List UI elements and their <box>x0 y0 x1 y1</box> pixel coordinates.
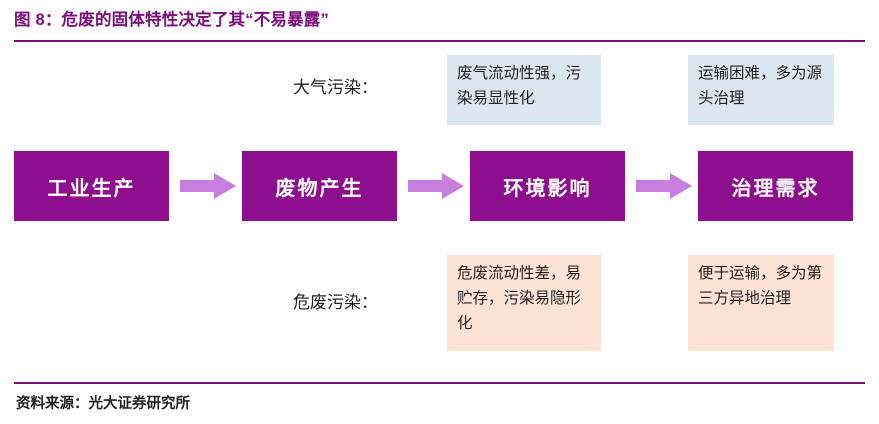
note-air-1: 废气流动性强，污染易显性化 <box>447 55 601 125</box>
figure-container: 图 8：危废的固体特性决定了其“不易暴露” 大气污染： 危废污染： 废气流动性强… <box>0 0 879 424</box>
flow-box-environmental-impact: 环境影响 <box>470 151 625 221</box>
arrow-right-icon-3 <box>636 173 692 199</box>
flow-box-industrial-production: 工业生产 <box>14 151 169 221</box>
note-hazardous-1: 危废流动性差，易贮存，污染易隐形化 <box>447 255 601 351</box>
title-divider <box>14 40 865 42</box>
note-hazardous-2: 便于运输，多为第三方异地治理 <box>688 255 834 351</box>
note-air-2: 运输困难，多为源头治理 <box>688 55 834 125</box>
page-title: 图 8：危废的固体特性决定了其“不易暴露” <box>14 8 865 32</box>
footer-divider <box>14 382 865 384</box>
row-label-air-pollution: 大气污染： <box>293 73 378 98</box>
source-note: 资料来源：光大证券研究所 <box>16 392 190 413</box>
arrow-right-icon-1 <box>180 173 236 199</box>
arrow-right-icon-2 <box>408 173 464 199</box>
row-label-hazardous-pollution: 危废污染： <box>293 288 378 313</box>
flow-box-waste-generation: 废物产生 <box>242 151 397 221</box>
figure-title-bar: 图 8：危废的固体特性决定了其“不易暴露” <box>14 8 865 38</box>
flow-box-treatment-demand: 治理需求 <box>698 151 853 221</box>
